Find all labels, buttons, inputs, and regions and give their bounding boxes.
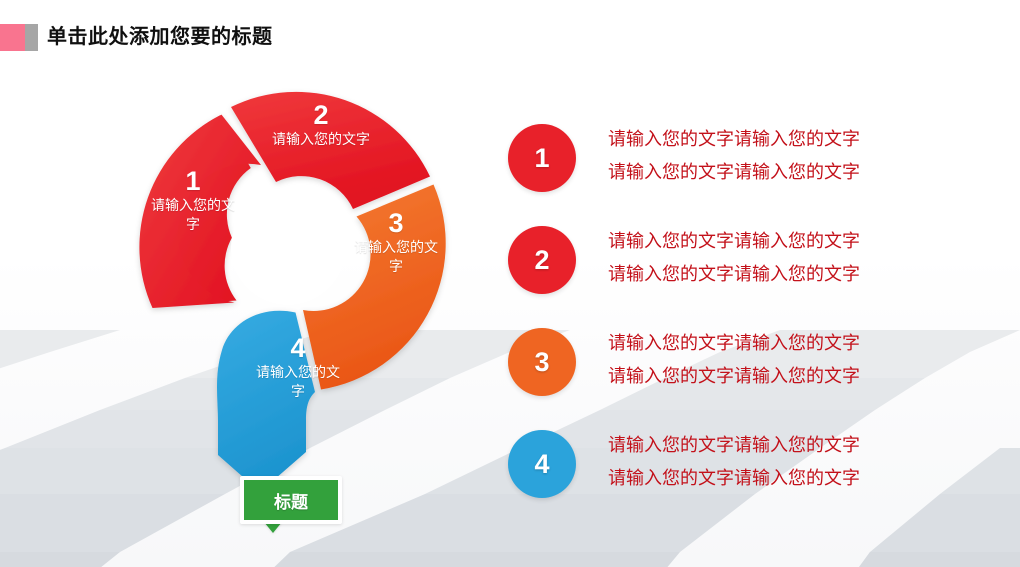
bullet-number-4: 4 <box>534 449 549 480</box>
list-item-text-4: 请输入您的文字请输入您的文字 请输入您的文字请输入您的文字 <box>608 429 860 495</box>
list-line-3b: 请输入您的文字请输入您的文字 <box>608 360 860 393</box>
list-item[interactable]: 3 请输入您的文字请输入您的文字 请输入您的文字请输入您的文字 <box>505 322 975 424</box>
list-line-1b: 请输入您的文字请输入您的文字 <box>608 156 860 189</box>
list-line-4b: 请输入您的文字请输入您的文字 <box>608 462 860 495</box>
bullet-circle-4[interactable]: 4 <box>508 430 576 498</box>
list-item-text-1: 请输入您的文字请输入您的文字 请输入您的文字请输入您的文字 <box>608 123 860 189</box>
accent-block-gray <box>25 24 38 51</box>
page-title: 单击此处添加您要的标题 <box>47 24 273 51</box>
tag-label: 标题 <box>274 488 308 513</box>
bullet-circle-1[interactable]: 1 <box>508 124 576 192</box>
list-item[interactable]: 2 请输入您的文字请输入您的文字 请输入您的文字请输入您的文字 <box>505 220 975 322</box>
list-line-2a: 请输入您的文字请输入您的文字 <box>608 225 860 258</box>
list-line-1a: 请输入您的文字请输入您的文字 <box>608 123 860 156</box>
list-line-3a: 请输入您的文字请输入您的文字 <box>608 327 860 360</box>
list-item[interactable]: 4 请输入您的文字请输入您的文字 请输入您的文字请输入您的文字 <box>505 424 975 526</box>
header-accent-swatches <box>0 24 38 51</box>
bullet-circle-2[interactable]: 2 <box>508 226 576 294</box>
tag-box[interactable]: 标题 <box>240 476 342 524</box>
list-item[interactable]: 1 请输入您的文字请输入您的文字 请输入您的文字请输入您的文字 <box>505 118 975 220</box>
list-item-text-3: 请输入您的文字请输入您的文字 请输入您的文字请输入您的文字 <box>608 327 860 393</box>
bullet-list: 1 请输入您的文字请输入您的文字 请输入您的文字请输入您的文字 2 请输入您的文… <box>505 118 975 526</box>
accent-block-pink <box>0 24 25 51</box>
donut-segment-4[interactable] <box>217 311 315 492</box>
bullet-number-1: 1 <box>534 143 549 174</box>
slide-canvas: 单击此处添加您要的标题 <box>0 0 1020 567</box>
bullet-number-2: 2 <box>534 245 549 276</box>
list-line-2b: 请输入您的文字请输入您的文字 <box>608 258 860 291</box>
donut-segment-2[interactable] <box>231 92 430 209</box>
bullet-number-3: 3 <box>534 347 549 378</box>
list-line-4a: 请输入您的文字请输入您的文字 <box>608 429 860 462</box>
bullet-circle-3[interactable]: 3 <box>508 328 576 396</box>
list-item-text-2: 请输入您的文字请输入您的文字 请输入您的文字请输入您的文字 <box>608 225 860 291</box>
donut-center-hole <box>231 191 345 305</box>
